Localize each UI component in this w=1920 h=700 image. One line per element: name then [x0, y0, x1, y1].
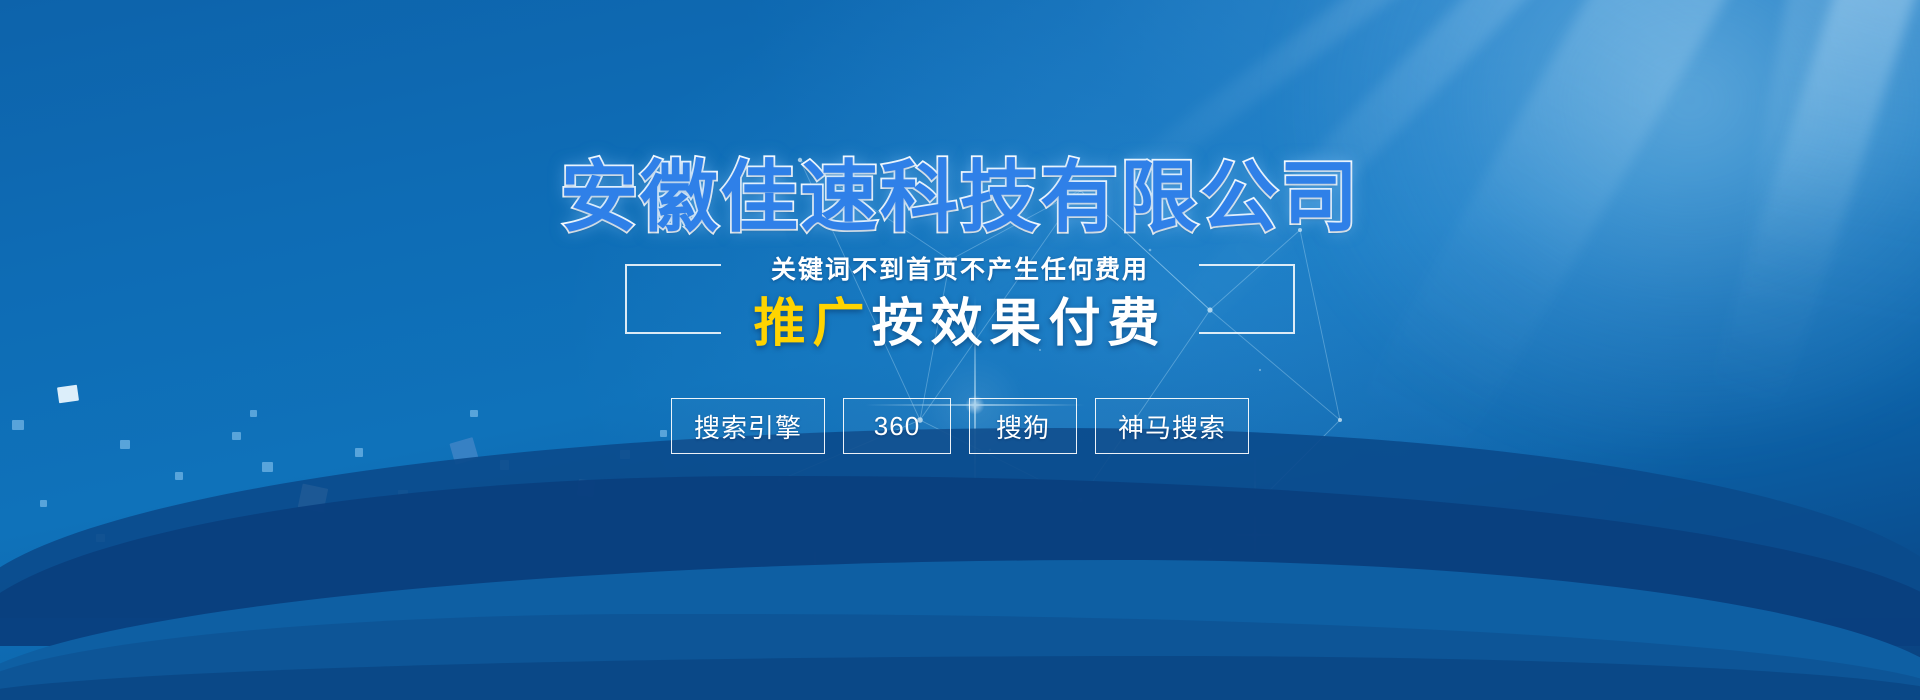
tag-item[interactable]: 360	[843, 398, 951, 454]
tag-item[interactable]: 搜狗	[969, 398, 1077, 454]
promo-headline-highlight: 推广	[753, 295, 871, 353]
company-title: 安徽佳速科技有限公司	[560, 158, 1360, 236]
hero-banner: 安徽佳速科技有限公司 关键词不到首页不产生任何费用 推广按效果付费 搜索引擎 3…	[0, 0, 1920, 700]
bracket-left-decoration	[625, 264, 721, 334]
promo-headline-plain: 按效果付费	[872, 295, 1167, 353]
tag-label: 神马搜索	[1118, 408, 1226, 445]
promo-block: 关键词不到首页不产生任何费用 推广按效果付费	[675, 256, 1245, 368]
banner-content: 安徽佳速科技有限公司 关键词不到首页不产生任何费用 推广按效果付费 搜索引擎 3…	[0, 0, 1920, 700]
tag-label: 搜狗	[996, 408, 1050, 445]
tag-item[interactable]: 神马搜索	[1095, 398, 1249, 454]
promo-headline: 推广按效果付费	[753, 295, 1166, 353]
tag-item[interactable]: 搜索引擎	[671, 398, 825, 454]
tag-label: 搜索引擎	[694, 408, 802, 445]
bracket-right-decoration	[1199, 264, 1295, 334]
promo-subtitle: 关键词不到首页不产生任何费用	[771, 258, 1149, 283]
search-engine-tag-list: 搜索引擎 360 搜狗 神马搜索	[671, 398, 1249, 454]
tag-label: 360	[874, 411, 920, 442]
